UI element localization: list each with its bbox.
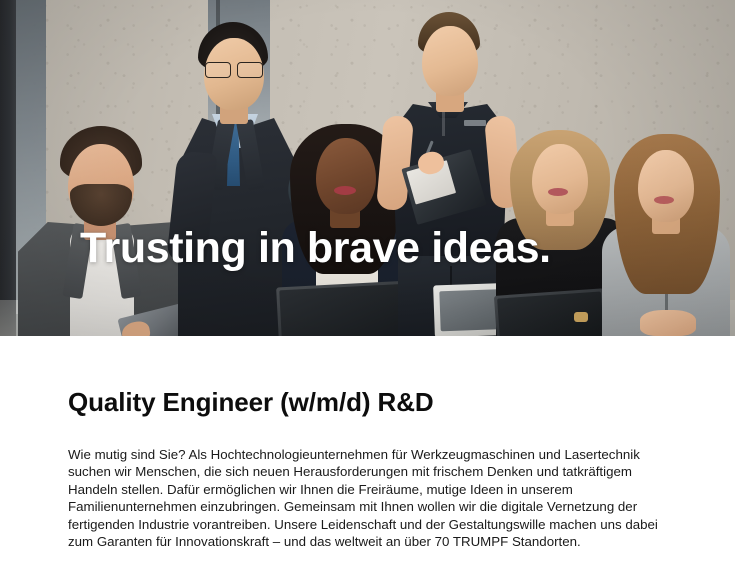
- folded-hands: [640, 310, 696, 336]
- lips: [548, 188, 568, 196]
- job-intro-paragraph: Wie mutig sind Sie? Als Hochtechnologieu…: [68, 446, 658, 550]
- lips: [654, 196, 674, 204]
- job-posting-page: Trusting in brave ideas. Quality Enginee…: [0, 0, 735, 573]
- page-title: Quality Engineer (w/m/d) R&D: [68, 386, 434, 418]
- laptop-device: [494, 288, 608, 336]
- face: [532, 144, 588, 214]
- hero-banner: Trusting in brave ideas.: [0, 0, 735, 336]
- face: [316, 138, 376, 214]
- hero-headline: Trusting in brave ideas.: [80, 224, 551, 272]
- face: [638, 150, 694, 222]
- wristwatch: [574, 312, 588, 322]
- window-mullion: [0, 0, 16, 336]
- face: [422, 26, 478, 96]
- chest-logo: [464, 120, 486, 126]
- lips: [334, 186, 356, 195]
- person-woman-grey-hoodie: [600, 134, 732, 336]
- hero-team-photo: [0, 0, 735, 336]
- beard: [70, 184, 132, 226]
- eyeglasses: [204, 62, 264, 76]
